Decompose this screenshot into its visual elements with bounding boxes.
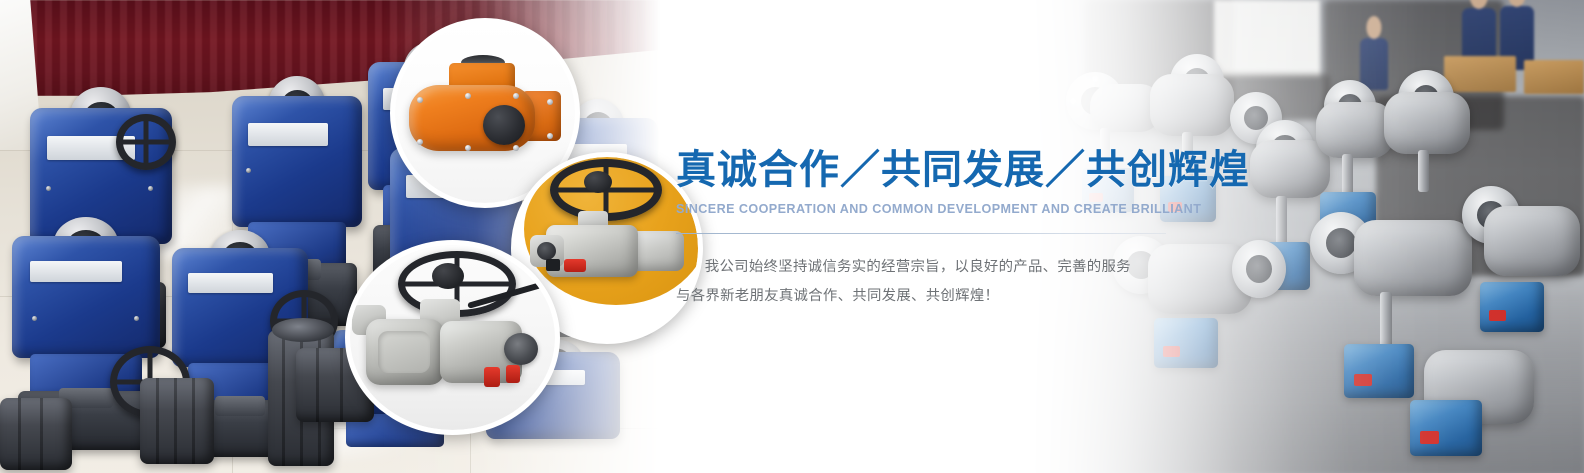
paragraph-line-1: 我公司始终坚持诚信务实的经营宗旨，以良好的产品、完善的服务 [676, 253, 1176, 282]
paragraph-line-2: 与各界新老朋友真诚合作、共同发展、共创辉煌！ [676, 282, 1176, 311]
terminal-cover [366, 319, 444, 385]
banner-paragraph: 我公司始终坚持诚信务实的经营宗旨，以良好的产品、完善的服务 与各界新老朋友真诚合… [676, 253, 1176, 311]
screw [465, 93, 471, 99]
screw [246, 168, 251, 173]
pipe-opening [272, 318, 334, 342]
terminal-red [564, 259, 586, 272]
banner-text-block: 真诚合作／共同发展／共创辉煌 SINCERE COOPERATION AND C… [676, 148, 1176, 311]
handwheel-hub [584, 171, 612, 193]
promotional-banner: 真诚合作／共同发展／共创辉煌 SINCERE COOPERATION AND C… [0, 0, 1584, 473]
actuator-body [12, 236, 160, 358]
actuator-label [30, 261, 122, 282]
divider-rule [676, 233, 1166, 234]
actuator-port [504, 333, 538, 365]
screw [417, 139, 423, 145]
screw [134, 316, 139, 321]
screw [32, 316, 37, 321]
actuator-label [248, 123, 329, 146]
grey-multiturn-actuator-circle [345, 240, 560, 435]
banner-subline: SINCERE COOPERATION AND COMMON DEVELOPME… [676, 202, 1176, 216]
screw [465, 145, 471, 151]
screw [513, 93, 519, 99]
actuator-knob [483, 105, 525, 145]
actuator-label [188, 273, 272, 294]
handwheel-hub [432, 263, 464, 289]
multiturn-actuator [358, 293, 548, 397]
orange-actuator [409, 61, 561, 153]
screw [513, 145, 519, 151]
terminal-red [484, 367, 500, 387]
screw [547, 99, 553, 105]
terminal-red [506, 365, 520, 383]
pvc-pipe [140, 378, 214, 464]
screw [417, 97, 423, 103]
actuator-body [232, 96, 362, 227]
banner-headline: 真诚合作／共同发展／共创辉煌 [676, 148, 1176, 193]
handwheel [116, 114, 176, 170]
pvc-pipe [0, 398, 72, 470]
screw [547, 133, 553, 139]
screw [46, 186, 51, 191]
screw [148, 186, 153, 191]
